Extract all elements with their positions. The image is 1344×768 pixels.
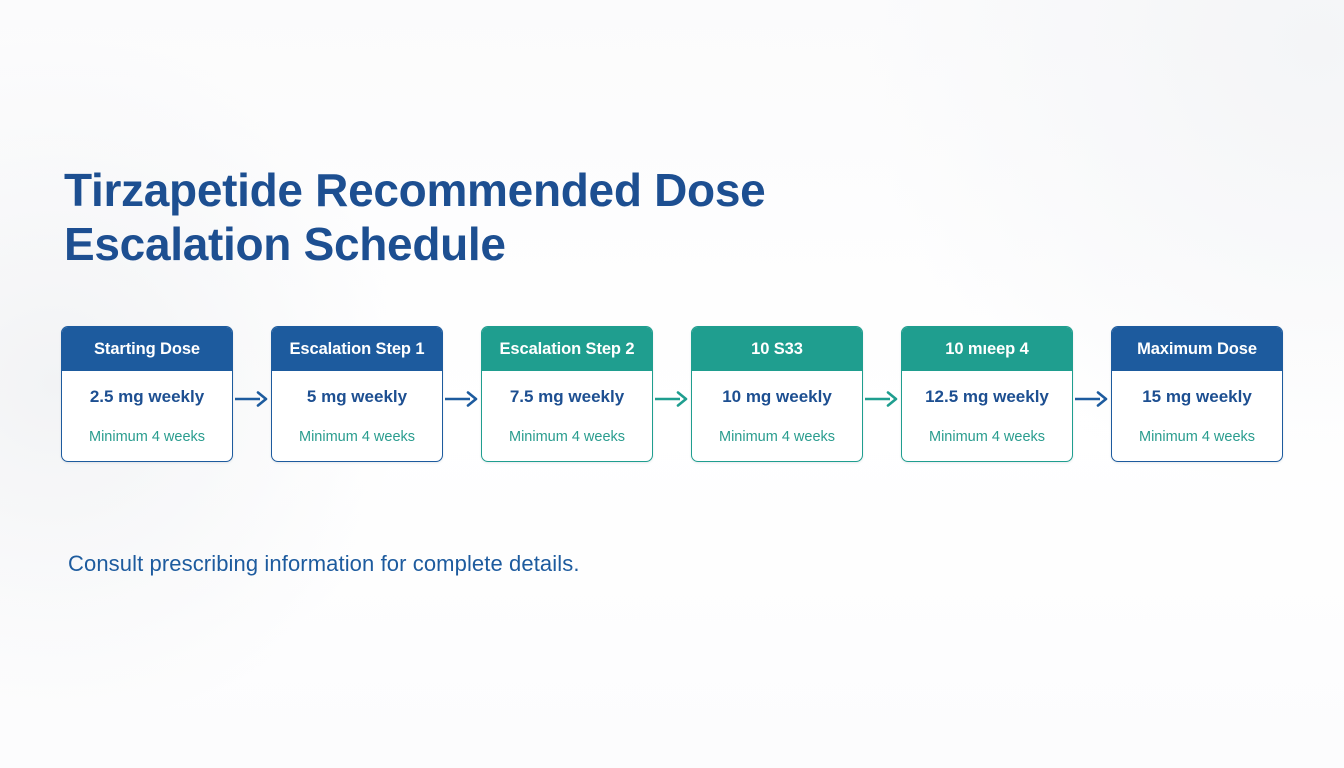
arrow-right-icon (445, 390, 479, 408)
arrow-step-5-to-6 (1073, 330, 1111, 468)
arrow-step-3-to-4 (653, 330, 691, 468)
dose-step-amount-5: 12.5 mg weekly (925, 387, 1049, 407)
arrow-step-2-to-3 (443, 330, 481, 468)
dose-step-body-4: 10 mg weekly Minimum 4 weeks (692, 371, 862, 461)
dose-step-amount-4: 10 mg weekly (722, 387, 832, 407)
dose-step-duration-3: Minimum 4 weeks (509, 429, 625, 445)
page-title: Tirzapetide Recommended Dose Escalation … (64, 163, 924, 272)
dose-step-header-2: Escalation Step 1 (272, 327, 442, 371)
dose-step-duration-2: Minimum 4 weeks (299, 429, 415, 445)
dose-step-body-3: 7.5 mg weekly Minimum 4 weeks (482, 371, 652, 461)
dose-escalation-flow: Starting Dose 2.5 mg weekly Minimum 4 we… (61, 326, 1283, 464)
dose-step-duration-6: Minimum 4 weeks (1139, 429, 1255, 445)
dose-step-duration-1: Minimum 4 weeks (89, 429, 205, 445)
arrow-step-1-to-2 (233, 330, 271, 468)
arrow-right-icon (235, 390, 269, 408)
dose-step-amount-6: 15 mg weekly (1142, 387, 1252, 407)
dose-step-card-3: Escalation Step 2 7.5 mg weekly Minimum … (481, 326, 653, 462)
dose-step-body-5: 12.5 mg weekly Minimum 4 weeks (902, 371, 1072, 461)
dose-step-card-1: Starting Dose 2.5 mg weekly Minimum 4 we… (61, 326, 233, 462)
dose-step-amount-3: 7.5 mg weekly (510, 387, 624, 407)
dose-step-body-1: 2.5 mg weekly Minimum 4 weeks (62, 371, 232, 461)
dose-step-header-3: Escalation Step 2 (482, 327, 652, 371)
arrow-right-icon (655, 390, 689, 408)
prescribing-information-note: Consult prescribing information for comp… (68, 551, 580, 577)
dose-step-header-6: Maximum Dose (1112, 327, 1282, 371)
dose-step-card-6: Maximum Dose 15 mg weekly Minimum 4 week… (1111, 326, 1283, 462)
dose-step-header-5: 10 mıeep 4 (902, 327, 1072, 371)
dose-step-card-5: 10 mıeep 4 12.5 mg weekly Minimum 4 week… (901, 326, 1073, 462)
dose-step-header-4: 10 S33 (692, 327, 862, 371)
dose-escalation-infographic: Tirzapetide Recommended Dose Escalation … (0, 0, 1344, 768)
page-title-line-1: Tirzapetide Recommended Dose (64, 163, 924, 217)
arrow-right-icon (1075, 390, 1109, 408)
arrow-step-4-to-5 (863, 330, 901, 468)
dose-step-header-1: Starting Dose (62, 327, 232, 371)
dose-step-card-4: 10 S33 10 mg weekly Minimum 4 weeks (691, 326, 863, 462)
arrow-right-icon (865, 390, 899, 408)
dose-step-amount-2: 5 mg weekly (307, 387, 407, 407)
dose-step-amount-1: 2.5 mg weekly (90, 387, 204, 407)
dose-step-duration-5: Minimum 4 weeks (929, 429, 1045, 445)
dose-step-card-2: Escalation Step 1 5 mg weekly Minimum 4 … (271, 326, 443, 462)
dose-step-body-6: 15 mg weekly Minimum 4 weeks (1112, 371, 1282, 461)
dose-step-duration-4: Minimum 4 weeks (719, 429, 835, 445)
dose-step-body-2: 5 mg weekly Minimum 4 weeks (272, 371, 442, 461)
page-title-line-2: Escalation Schedule (64, 217, 924, 271)
